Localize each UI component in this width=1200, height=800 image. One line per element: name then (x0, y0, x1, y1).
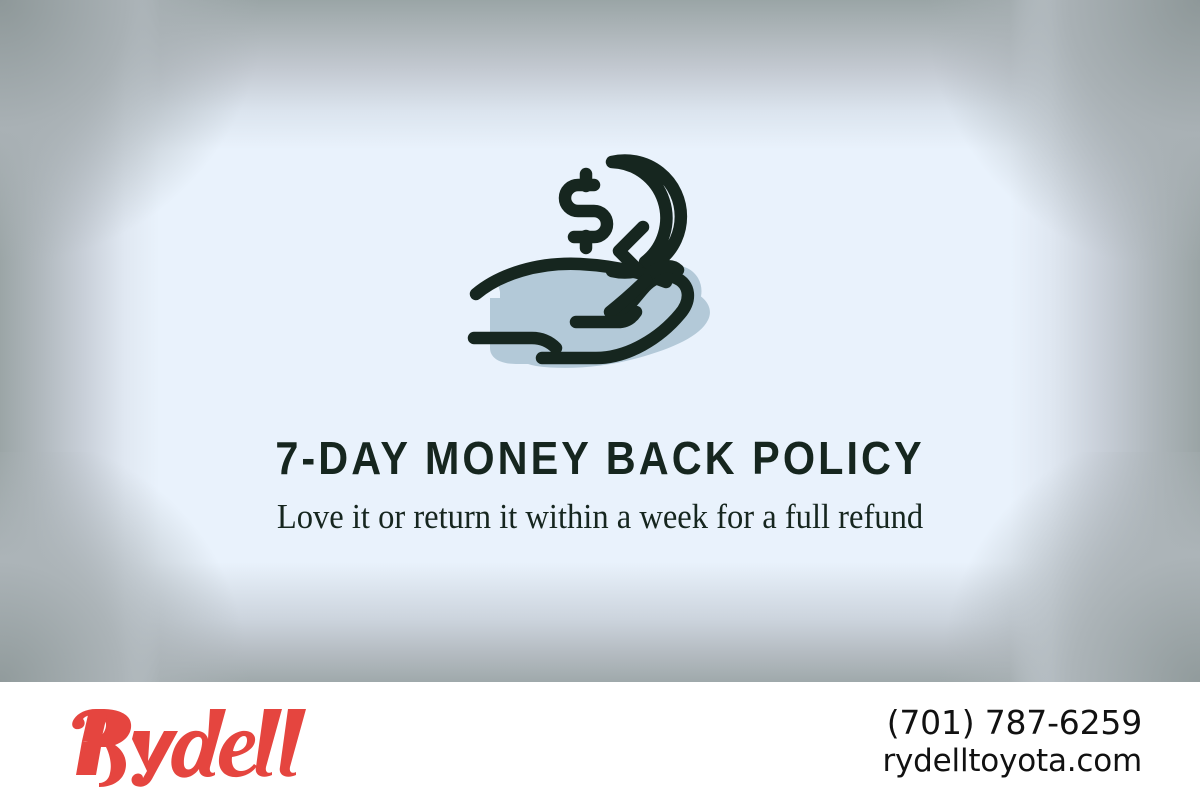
dollar-s-stroke (565, 185, 607, 237)
website-url[interactable]: rydelltoyota.com (882, 742, 1142, 780)
footer-bar: Rydell (701) 787-6259 rydelltoyota.com (0, 682, 1200, 800)
finger-fold-outer (650, 266, 678, 274)
page-title: 7-DAY MONEY BACK POLICY (60, 433, 1140, 483)
page-subtitle: Love it or return it within a week for a… (256, 494, 944, 539)
vignette-left (0, 0, 160, 682)
phone-number[interactable]: (701) 787-6259 (882, 703, 1142, 742)
vignette-bottom-right (920, 452, 1200, 682)
contact-info: (701) 787-6259 rydelltoyota.com (882, 703, 1142, 780)
promo-card: 7-DAY MONEY BACK POLICY Love it or retur… (0, 0, 1200, 800)
vignette-bottom-left (0, 452, 260, 682)
rydell-logo[interactable]: Rydell (52, 695, 314, 787)
vignette-top-left (0, 0, 260, 260)
hand-holding-money-return-icon (460, 152, 740, 402)
vignette-right (1010, 0, 1200, 682)
vignette-bottom (0, 562, 1200, 682)
vignette-top-right (920, 0, 1200, 260)
rydell-wordmark-shape (72, 709, 306, 787)
vignette-top (0, 0, 1200, 150)
hero-panel: 7-DAY MONEY BACK POLICY Love it or retur… (0, 0, 1200, 682)
